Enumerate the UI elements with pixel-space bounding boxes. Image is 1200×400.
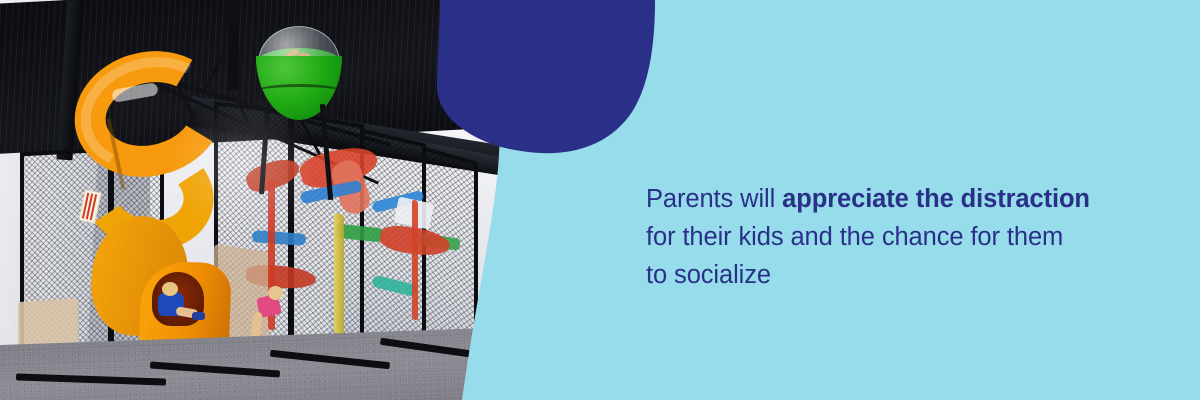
copy-line-3-regular: to socialize [646,261,771,289]
vertical-beam [228,0,239,90]
headline-copy: Parents will appreciate the distraction … [646,180,1126,294]
sphere-rim [254,84,344,100]
copy-line-2-regular: for their kids and the chance for them [646,223,1063,251]
playground-photo [0,0,520,400]
copy-line-1-regular: Parents will [646,185,782,213]
child-head [268,286,283,300]
promo-banner: Parents will appreciate the distraction … [0,0,1200,400]
play-post [412,199,418,320]
bubble-sphere [256,26,342,120]
copy-line-1-bold: appreciate the distraction [782,185,1090,213]
child-shoe [192,312,205,320]
copy-line-1: Parents will appreciate the distraction [646,180,1126,218]
copy-line-3: to socialize [646,256,1126,294]
child-head [162,282,178,296]
copy-line-2: for their kids and the chance for them [646,218,1126,256]
play-post [334,213,344,335]
